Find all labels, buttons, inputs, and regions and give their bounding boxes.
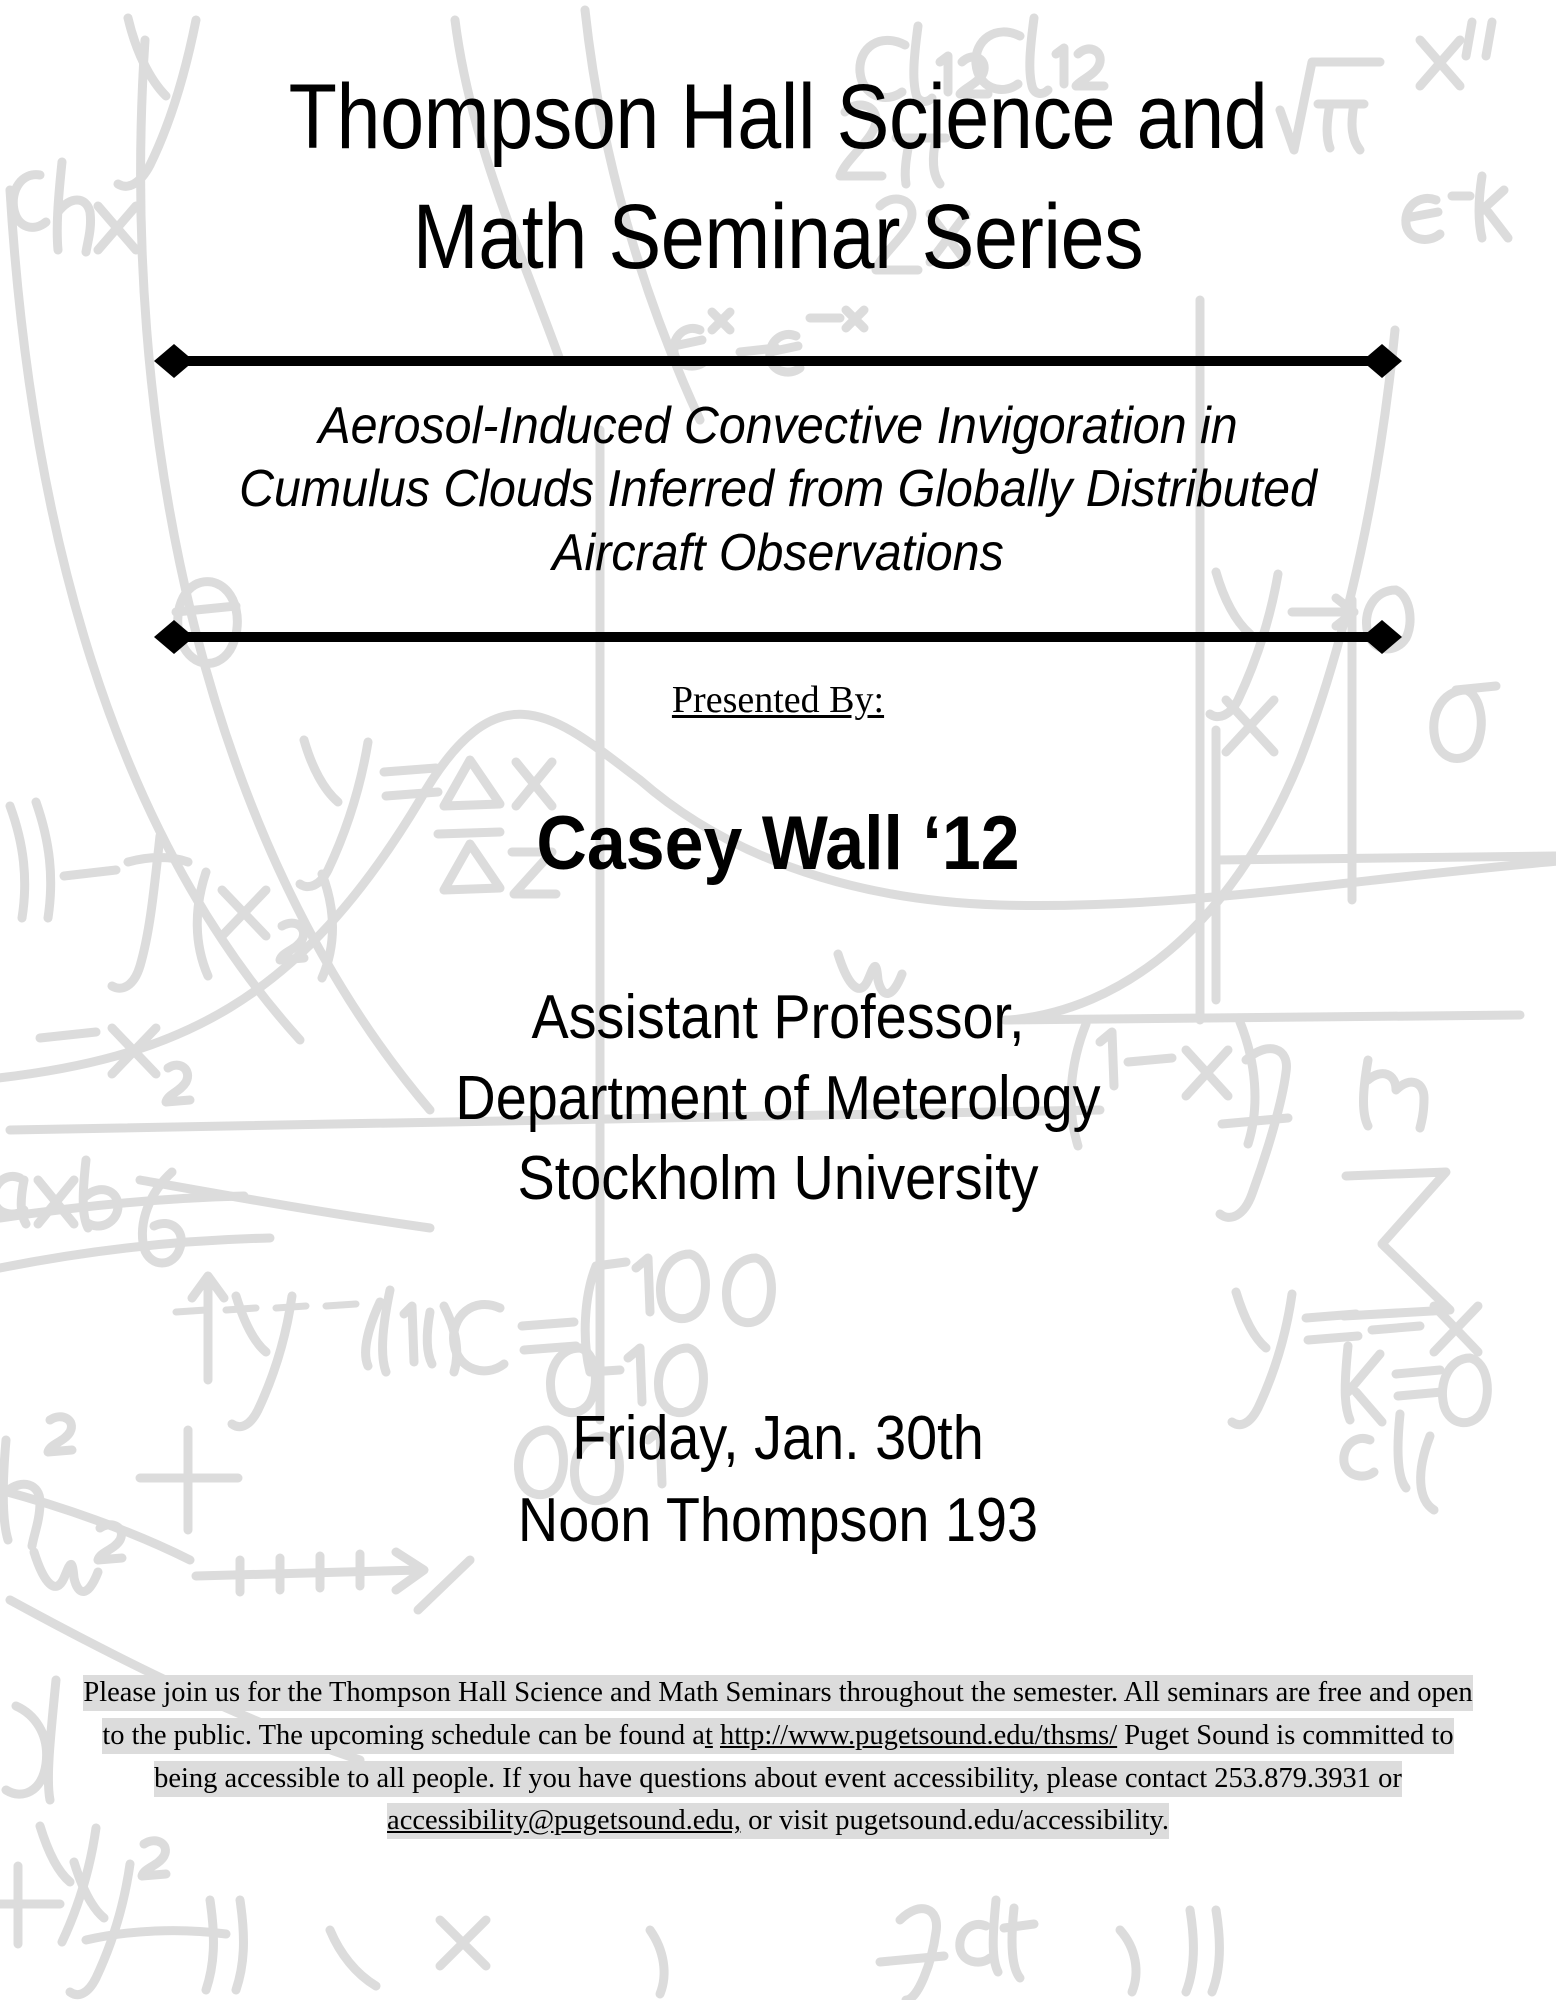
footer-underlined-t: t xyxy=(705,1720,713,1751)
presented-by-text: Presented By: xyxy=(672,679,884,721)
affiliation-line-3: Stockholm University xyxy=(78,1139,1478,1220)
footer-email-link[interactable]: accessibility@pugetsound.edu, xyxy=(387,1805,741,1836)
subtitle-line-3: Aircraft Observations xyxy=(54,522,1501,585)
speaker-affiliation: Assistant Professor, Department of Meter… xyxy=(0,978,1556,1220)
speaker-name: Casey Wall ‘12 xyxy=(62,800,1494,887)
divider-top xyxy=(152,340,1404,384)
presented-by-label: Presented By: xyxy=(0,678,1556,722)
poster-content: Thompson Hall Science and Math Seminar S… xyxy=(0,0,1556,2000)
footer-closing-text: or visit pugetsound.edu/accessibility. xyxy=(741,1805,1169,1836)
poster-title: Thompson Hall Science and Math Seminar S… xyxy=(0,58,1556,297)
divider-bottom xyxy=(152,616,1404,660)
subtitle-line-1: Aerosol-Induced Convective Invigoration … xyxy=(54,395,1501,458)
event-date: Friday, Jan. 30th xyxy=(78,1398,1478,1480)
title-line-2: Math Seminar Series xyxy=(109,178,1447,298)
event-time-location: Noon Thompson 193 xyxy=(78,1480,1478,1562)
title-line-1: Thompson Hall Science and xyxy=(109,58,1447,178)
footer-notice: Please join us for the Thompson Hall Sci… xyxy=(78,1672,1478,1843)
affiliation-line-1: Assistant Professor, xyxy=(78,978,1478,1059)
event-details: Friday, Jan. 30th Noon Thompson 193 xyxy=(0,1398,1556,1562)
footer-schedule-link[interactable]: http://www.pugetsound.edu/thsms/ xyxy=(720,1720,1117,1751)
affiliation-line-2: Department of Meterology xyxy=(78,1059,1478,1140)
poster-subtitle: Aerosol-Induced Convective Invigoration … xyxy=(0,395,1556,585)
subtitle-line-2: Cumulus Clouds Inferred from Globally Di… xyxy=(54,458,1501,521)
